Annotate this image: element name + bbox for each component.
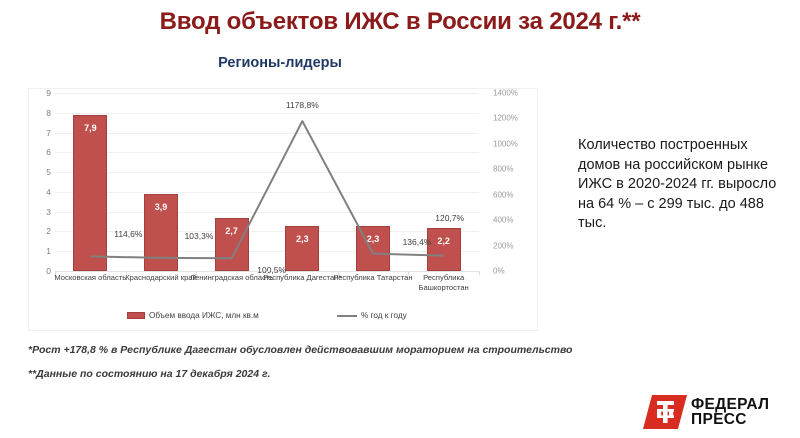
- line-value-label: 120,7%: [435, 213, 464, 223]
- legend-item-bars: Объем ввода ИЖС, млн кв.м: [127, 311, 259, 320]
- x-tick-separator: [55, 271, 56, 275]
- y-tick-right: 1000%: [493, 139, 518, 148]
- y-tick-right: 1400%: [493, 89, 518, 98]
- y-axis-left: 0123456789: [29, 93, 51, 271]
- line-path: [90, 121, 443, 258]
- side-note: Количество построенных домов на российск…: [578, 136, 793, 234]
- legend-bar-label: Объем ввода ИЖС, млн кв.м: [149, 311, 259, 320]
- chart-legend: Объем ввода ИЖС, млн кв.м % год к году: [55, 311, 479, 327]
- line-value-label: 1178,8%: [286, 100, 319, 110]
- y-tick-right: 600%: [493, 190, 513, 199]
- line-value-label: 103,3%: [185, 231, 214, 241]
- y-tick-left: 4: [46, 187, 51, 197]
- y-tick-left: 3: [46, 207, 51, 217]
- y-tick-left: 8: [46, 108, 51, 118]
- federalpress-logo-icon: [643, 392, 687, 432]
- x-tick-separator: [126, 271, 127, 275]
- line-value-label: 114,6%: [114, 229, 142, 239]
- federalpress-logo: ФЕДЕРАЛ ПРЕСС: [641, 389, 793, 434]
- y-tick-left: 1: [46, 246, 51, 256]
- y-tick-left: 9: [46, 88, 51, 98]
- y-tick-right: 1200%: [493, 114, 518, 123]
- y-tick-left: 7: [46, 128, 51, 138]
- slide-root: Ввод объектов ИЖС в России за 2024 г.** …: [0, 0, 800, 438]
- footnote-2: **Данные по состоянию на 17 декабря 2024…: [28, 368, 270, 380]
- line-value-label: 136,4%: [403, 237, 432, 247]
- y-tick-left: 6: [46, 147, 51, 157]
- x-tick-separator: [479, 271, 480, 275]
- y-tick-left: 5: [46, 167, 51, 177]
- legend-line-swatch-icon: [337, 315, 357, 317]
- logo-line-1: ФЕДЕРАЛ: [691, 397, 769, 412]
- plot-area: 7,93,92,72,32,32,2 114,6%103,3%100,5%117…: [55, 93, 479, 271]
- legend-line-label: % год к году: [361, 311, 407, 320]
- federalpress-logo-text: ФЕДЕРАЛ ПРЕСС: [691, 397, 769, 427]
- x-tick-separator: [196, 271, 197, 275]
- chart-card: 0123456789 0%200%400%600%800%1000%1200%1…: [28, 88, 538, 331]
- x-tick-separator: [267, 271, 268, 275]
- page-title: Ввод объектов ИЖС в России за 2024 г.**: [0, 8, 800, 36]
- x-axis: Московская областьКраснодарский крайЛени…: [55, 273, 479, 307]
- y-tick-right: 800%: [493, 165, 513, 174]
- y-tick-right: 400%: [493, 216, 513, 225]
- x-tick-separator: [408, 271, 409, 275]
- y-axis-right: 0%200%400%600%800%1000%1200%1400%: [481, 93, 537, 271]
- chart-plot-wrapper: 0123456789 0%200%400%600%800%1000%1200%1…: [29, 89, 539, 332]
- logo-line-2: ПРЕСС: [691, 412, 769, 427]
- chart-subtitle: Регионы-лидеры: [0, 55, 560, 71]
- legend-item-line: % год к году: [337, 311, 407, 320]
- footnote-1: *Рост +178,8 % в Республике Дагестан обу…: [28, 344, 572, 356]
- x-tick-label: Республика Башкортостан: [402, 273, 486, 293]
- x-tick-separator: [338, 271, 339, 275]
- y-tick-right: 0%: [493, 267, 505, 276]
- y-tick-left: 2: [46, 226, 51, 236]
- legend-bar-swatch-icon: [127, 312, 145, 319]
- y-tick-right: 200%: [493, 241, 513, 250]
